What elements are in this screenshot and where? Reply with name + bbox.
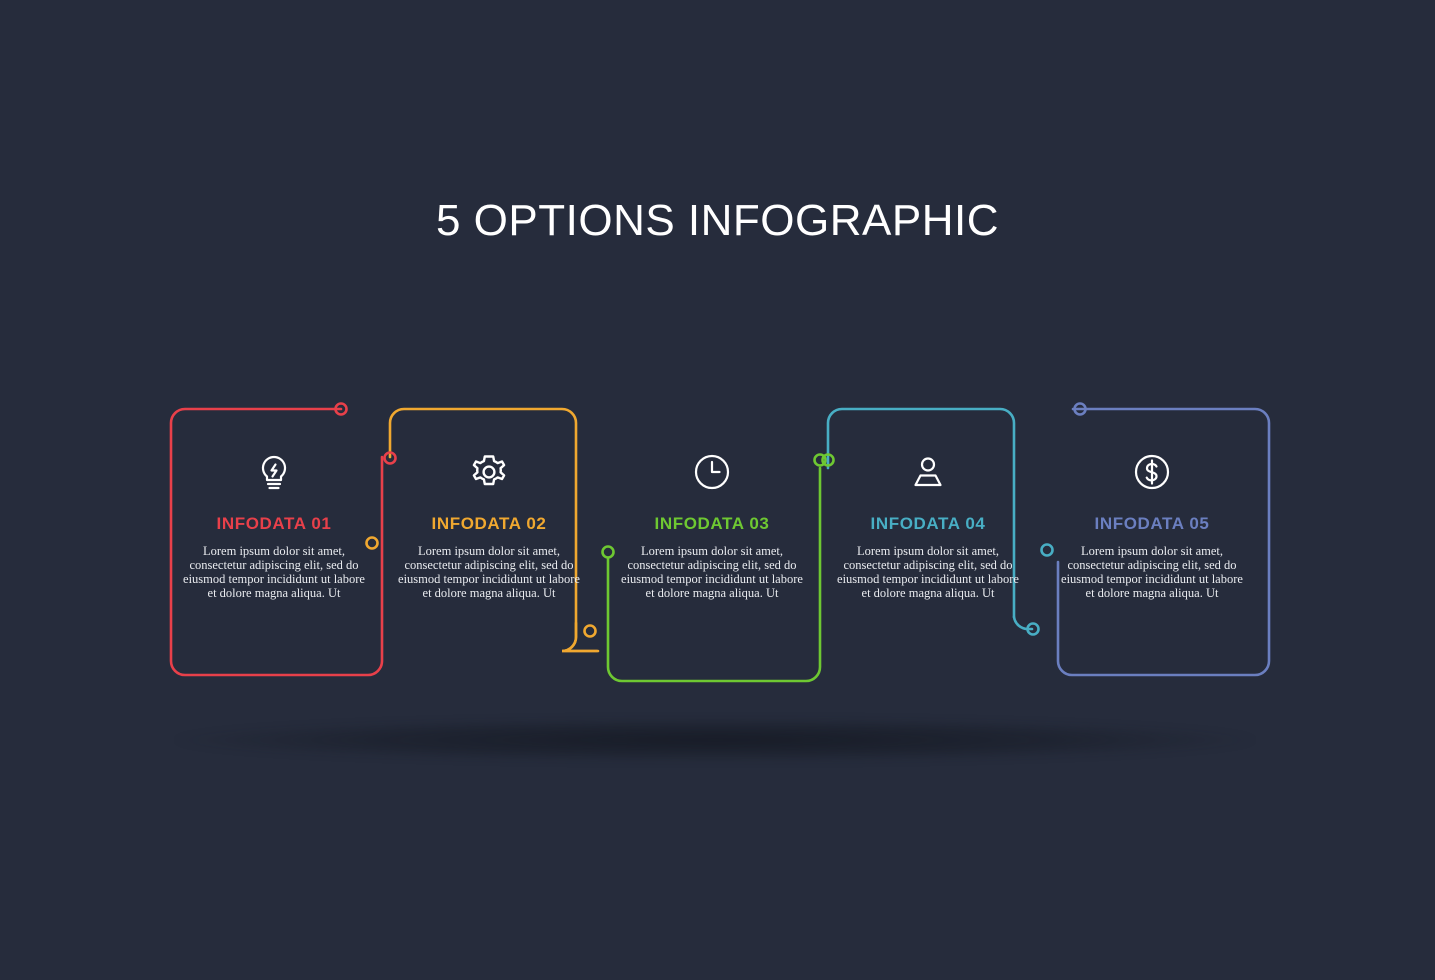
option-card-5[interactable]: INFODATA 05 Lorem ipsum dolor sit amet, … xyxy=(1044,440,1260,600)
lightbulb-icon xyxy=(166,440,382,504)
option-card-3[interactable]: INFODATA 03 Lorem ipsum dolor sit amet, … xyxy=(604,440,820,600)
user-icon xyxy=(820,440,1036,504)
option-label-4: INFODATA 04 xyxy=(820,514,1036,534)
gear-icon xyxy=(381,440,597,504)
option-label-3: INFODATA 03 xyxy=(604,514,820,534)
connector-path-4b xyxy=(1014,617,1032,629)
connector-node-2b xyxy=(585,626,596,637)
option-card-1[interactable]: INFODATA 01 Lorem ipsum dolor sit amet, … xyxy=(166,440,382,600)
option-label-1: INFODATA 01 xyxy=(166,514,382,534)
option-description-2: Lorem ipsum dolor sit amet, consectetur … xyxy=(381,544,597,600)
clock-icon xyxy=(604,440,820,504)
option-description-4: Lorem ipsum dolor sit amet, consectetur … xyxy=(820,544,1036,600)
option-description-3: Lorem ipsum dolor sit amet, consectetur … xyxy=(604,544,820,600)
option-description-1: Lorem ipsum dolor sit amet, consectetur … xyxy=(166,544,382,600)
infographic-canvas: 5 OPTIONS INFOGRAPHIC xyxy=(0,0,1435,980)
option-card-2[interactable]: INFODATA 02 Lorem ipsum dolor sit amet, … xyxy=(381,440,597,600)
option-label-5: INFODATA 05 xyxy=(1044,514,1260,534)
option-description-5: Lorem ipsum dolor sit amet, consectetur … xyxy=(1044,544,1260,600)
dollar-icon xyxy=(1044,440,1260,504)
option-card-4[interactable]: INFODATA 04 Lorem ipsum dolor sit amet, … xyxy=(820,440,1036,600)
option-label-2: INFODATA 02 xyxy=(381,514,597,534)
